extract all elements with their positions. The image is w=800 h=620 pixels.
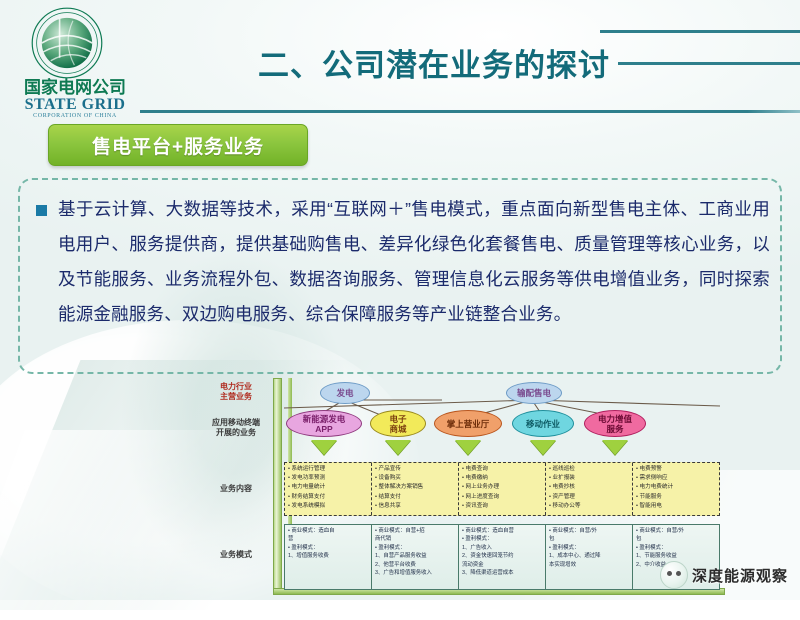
logo-en-sub: CORPORATION OF CHINA — [14, 113, 136, 119]
model-column-4: • 商业模式：自营/外 包• 盈利模式： 1、成本中心、通过降 本实现增效 — [546, 525, 633, 589]
slide-canvas: 国家电网公司 STATE GRID CORPORATION OF CHINA 二… — [0, 0, 800, 600]
model-item: 2、他营平台收费 — [375, 561, 456, 569]
content-item: 整体解决方案销售 — [375, 483, 457, 492]
arrow-down-icon-3 — [455, 440, 481, 455]
content-item: 巡线巡检 — [549, 465, 631, 474]
content-column-4: 巡线巡检业扩报装电费抄核资产管理移动办公等 — [546, 463, 633, 515]
model-item: 1、自营产品服务收益 — [375, 552, 456, 560]
diagram-axis-bar — [273, 378, 282, 594]
row-label-industry-main-business: 电力行业主营业务 — [200, 382, 272, 402]
node-e-mall[interactable]: 电子商城 — [370, 410, 426, 437]
model-item: 包 — [636, 535, 717, 543]
content-item: 节能服务 — [636, 493, 718, 502]
node-mobile-operations[interactable]: 移动作业 — [512, 410, 574, 437]
arrow-down-icon-4 — [530, 440, 556, 455]
content-item: 资产管理 — [549, 493, 631, 502]
node-transmission-distribution-sales[interactable]: 输配售电 — [506, 382, 562, 404]
content-column-5: 电费预警需求侧响应电力电费统计节能服务智能用电 — [633, 463, 719, 515]
model-item: • 商业模式：自营/外 — [636, 527, 717, 535]
model-item: 流动资金 — [462, 561, 543, 569]
watermark: 深度能源观察 — [654, 556, 794, 594]
row-label-business-model: 业务模式 — [200, 550, 272, 560]
square-bullet-icon — [36, 205, 47, 216]
model-item: 营 — [288, 535, 369, 543]
logo-en-name: STATE GRID — [14, 96, 136, 113]
content-item: 系统运行管理 — [288, 465, 370, 474]
content-item: 设备购买 — [375, 474, 457, 483]
model-item: 1、成本中心、通过降 — [549, 552, 630, 560]
content-column-2: 产品宣传设备购买整体解决方案销售结算支付信息共享 — [372, 463, 459, 515]
header-rule-main — [140, 110, 800, 113]
model-item: • 盈利模式： — [375, 544, 456, 552]
content-item: 电力电量统计 — [288, 483, 370, 492]
model-item: • 商业模式：自营+招 — [375, 527, 456, 535]
node-value-added-service[interactable]: 电力增值服务 — [584, 410, 646, 437]
page-title: 二、公司潜在业务的探讨 — [258, 40, 778, 85]
panda-avatar-icon — [660, 561, 688, 589]
state-grid-logo: 国家电网公司 STATE GRID CORPORATION OF CHINA — [8, 4, 138, 122]
arrow-down-icon-5 — [602, 440, 628, 455]
arrow-down-icon-2 — [385, 440, 411, 455]
content-item: 智能用电 — [636, 502, 718, 511]
arrow-down-icon-1 — [311, 440, 337, 455]
node-power-generation[interactable]: 发电 — [320, 382, 370, 404]
model-item: • 盈利模式： — [288, 544, 369, 552]
state-grid-globe-icon — [30, 6, 104, 80]
section-tab[interactable]: 售电平台+服务业务 — [48, 124, 308, 166]
content-item: 财务结算支付 — [288, 493, 370, 502]
row-label-business-content: 业务内容 — [200, 484, 272, 494]
model-item: • 盈利模式： — [549, 544, 630, 552]
model-column-2: • 商业模式：自营+招 商代销• 盈利模式： 1、自营产品服务收益 2、他营平台… — [372, 525, 459, 589]
content-item: 网上进度查询 — [462, 493, 544, 502]
content-item: 业扩报装 — [549, 474, 631, 483]
content-column-1: 系统运行管理发电功率预测电力电量统计财务结算支付发电系统模拟 — [285, 463, 372, 515]
content-item: 资讯查询 — [462, 502, 544, 511]
model-item: • 盈利模式： — [462, 535, 543, 543]
section-tab-label: 售电平台+服务业务 — [49, 132, 307, 159]
model-column-3: • 商业模式：造血自营• 盈利模式： 1、广告收入 2、资金快速回笼节约 流动资… — [459, 525, 546, 589]
watermark-text: 深度能源观察 — [692, 565, 788, 586]
row-label-mobile-terminal-business: 应用移动终端开展的业务 — [200, 418, 272, 438]
business-diagram: 电力行业主营业务 应用移动终端开展的业务 业务内容 业务模式 发电 输配售电 新… — [200, 378, 720, 594]
content-item: 移动办公等 — [549, 502, 631, 511]
content-item: 信息共享 — [375, 502, 457, 511]
model-item: • 商业模式：造血自 — [288, 527, 369, 535]
content-item: 需求侧响应 — [636, 474, 718, 483]
content-item: 网上业务办理 — [462, 483, 544, 492]
content-item: 电费抄核 — [549, 483, 631, 492]
content-column-3: 电费查询电费缴纳网上业务办理网上进度查询资讯查询 — [459, 463, 546, 515]
logo-cn-name: 国家电网公司 — [14, 78, 136, 97]
model-item: 3、广告和增值服务收入 — [375, 569, 456, 577]
content-item: 电费预警 — [636, 465, 718, 474]
content-item: 产品宣传 — [375, 465, 457, 474]
model-item: 本实现增效 — [549, 561, 630, 569]
model-column-1: • 商业模式：造血自 营• 盈利模式： 1、增值服务收费 — [285, 525, 372, 589]
model-item: 包 — [549, 535, 630, 543]
content-item: 发电系统模拟 — [288, 502, 370, 511]
node-mobile-service-hall[interactable]: 掌上营业厅 — [434, 410, 502, 437]
model-item: • 商业模式：造血自营 — [462, 527, 543, 535]
model-item: 2、资金快速回笼节约 — [462, 552, 543, 560]
model-item: 商代销 — [375, 535, 456, 543]
header-rule-top — [600, 30, 800, 33]
content-item: 电费查询 — [462, 465, 544, 474]
model-item: 1、增值服务收费 — [288, 552, 369, 560]
content-item: 结算支付 — [375, 493, 457, 502]
content-item: 发电功率预测 — [288, 474, 370, 483]
node-new-energy-app[interactable]: 新能源发电APP — [286, 410, 362, 437]
body-paragraph: 基于云计算、大数据等技术，采用“互联网＋”售电模式，重点面向新型售电主体、工商业… — [58, 192, 770, 332]
business-content-table: 系统运行管理发电功率预测电力电量统计财务结算支付发电系统模拟产品宣传设备购买整体… — [284, 462, 720, 516]
model-item: • 盈利模式： — [636, 544, 717, 552]
content-item: 电力电费统计 — [636, 483, 718, 492]
model-item: 1、广告收入 — [462, 544, 543, 552]
model-item: 3、降低渠道运营成本 — [462, 569, 543, 577]
model-item: • 商业模式：自营/外 — [549, 527, 630, 535]
content-item: 电费缴纳 — [462, 474, 544, 483]
